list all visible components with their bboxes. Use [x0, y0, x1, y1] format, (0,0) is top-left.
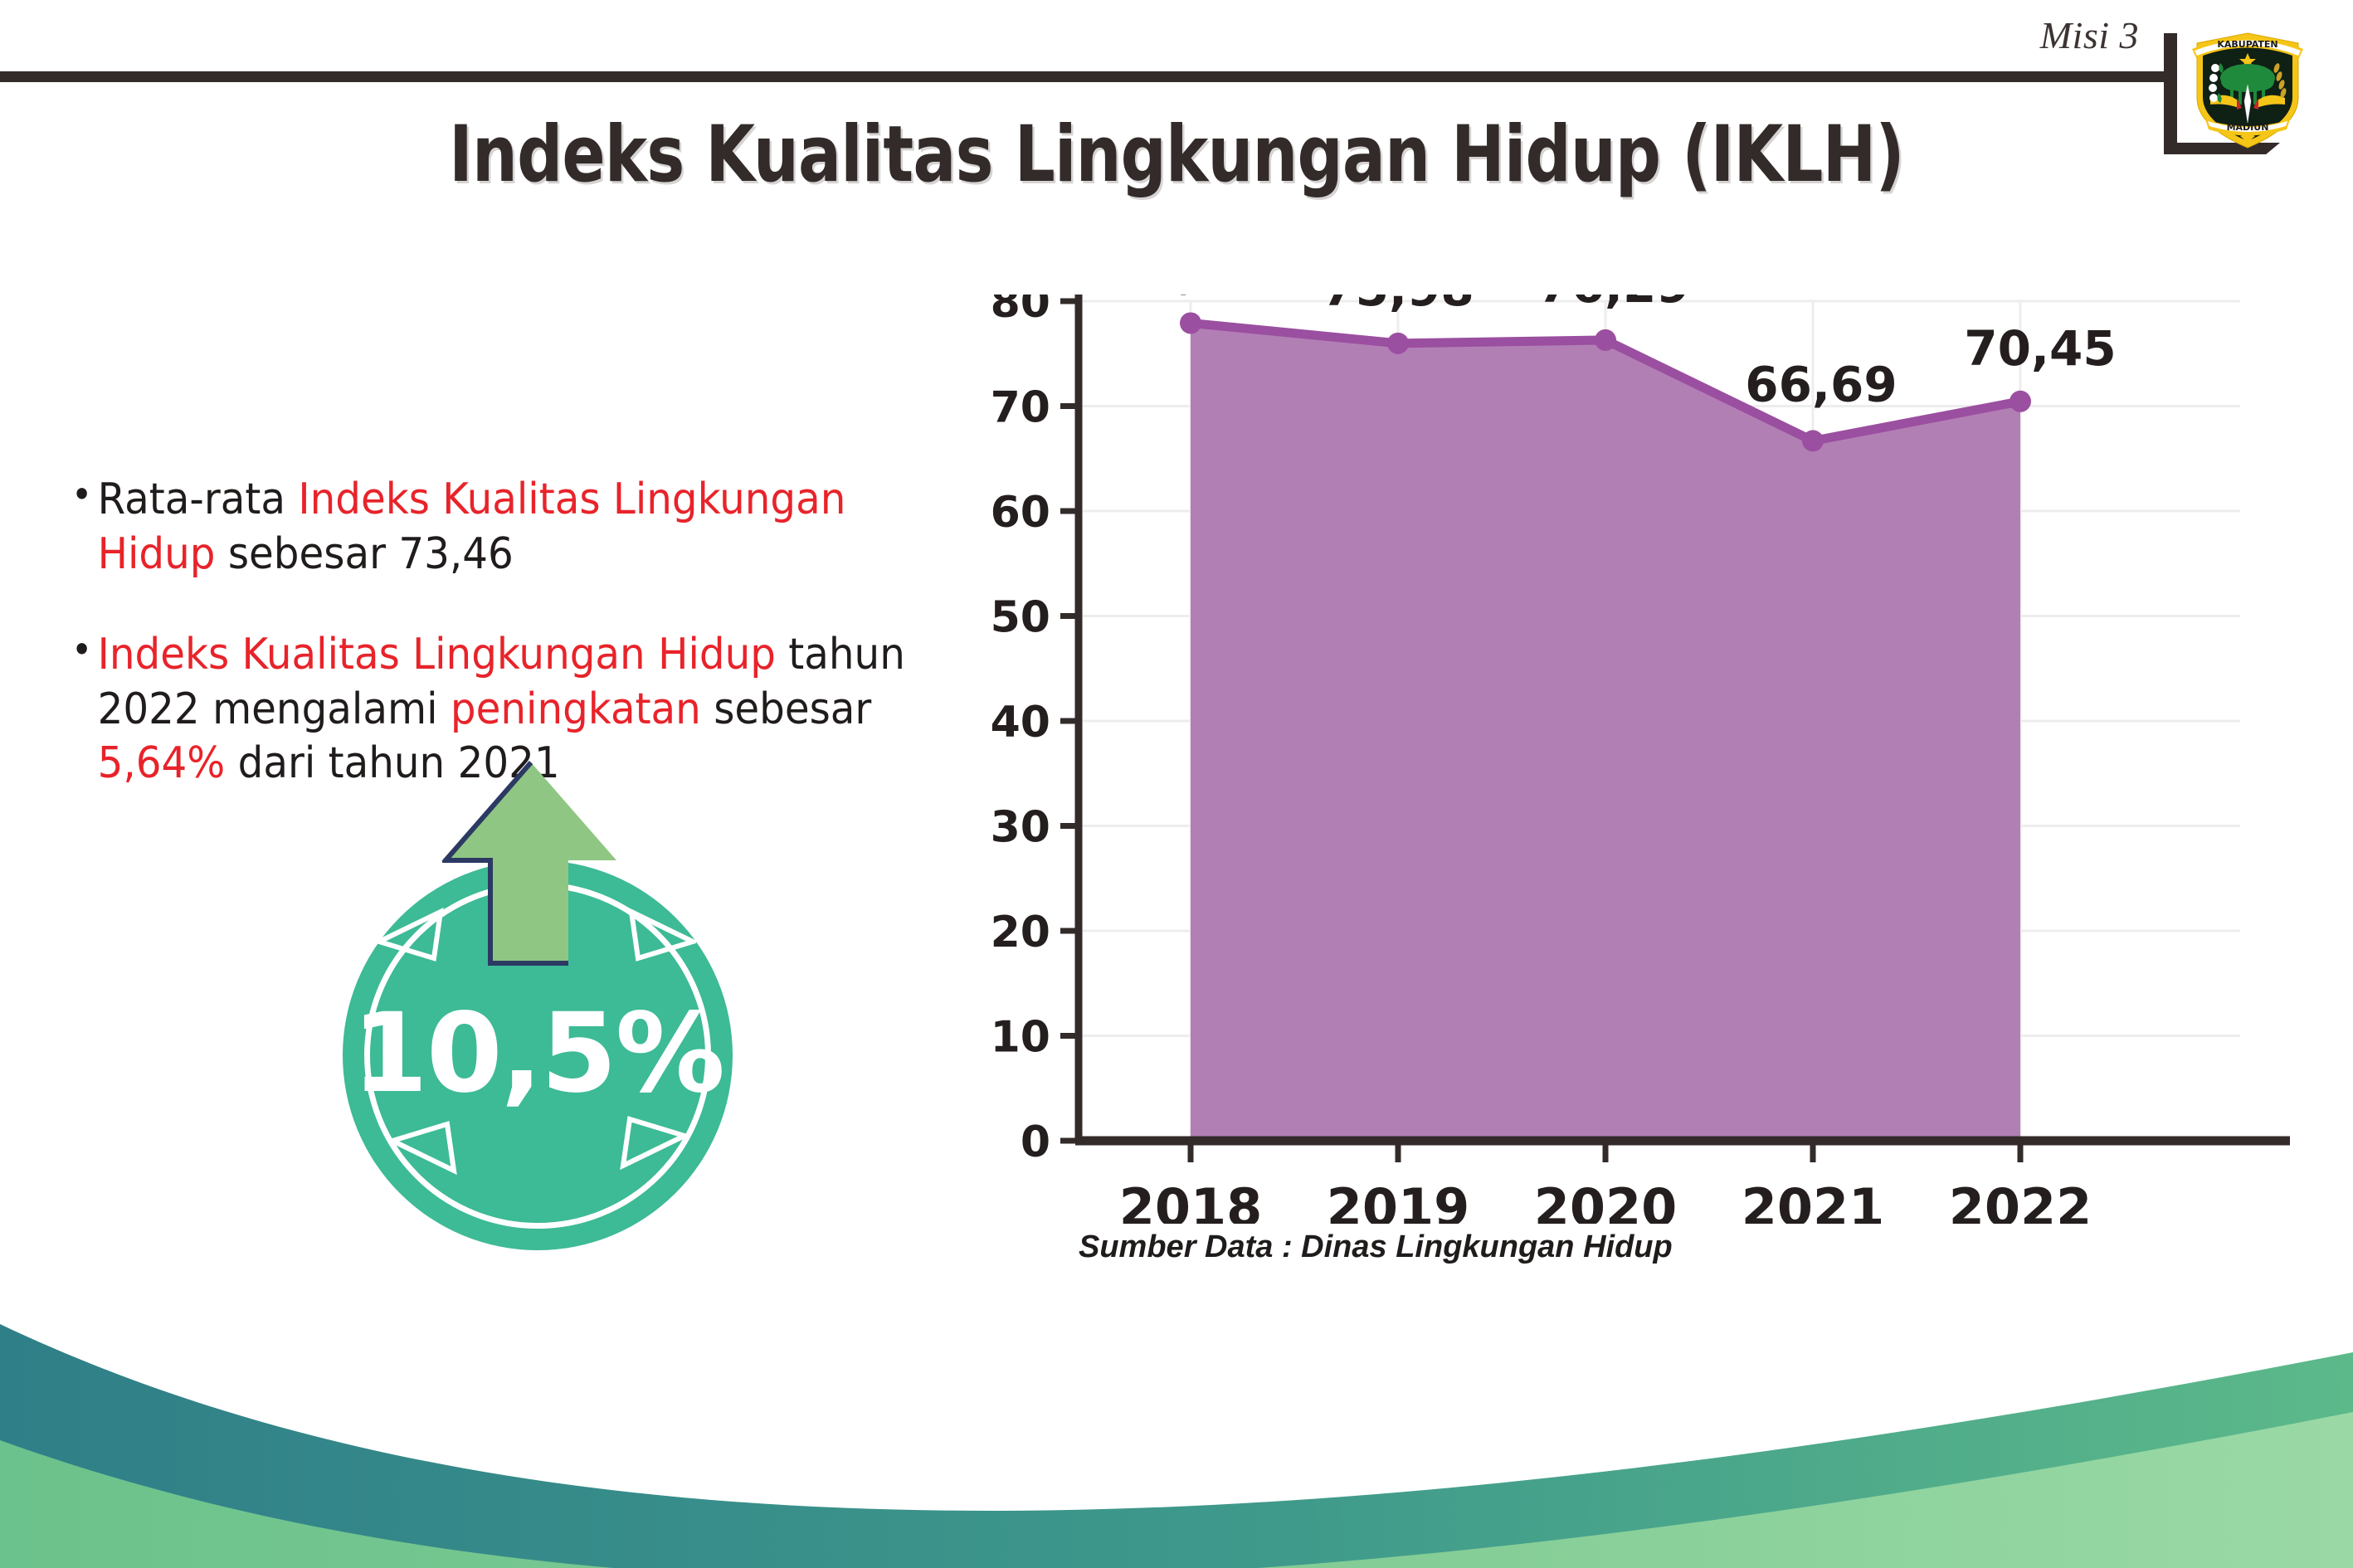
data-label: 70,45	[1964, 320, 2116, 377]
chart-area-series	[1180, 312, 2031, 1141]
misi-label: Misi 3	[2040, 13, 2139, 57]
header-rule	[0, 71, 2174, 82]
bullet-segment: Rata-rata	[98, 475, 299, 524]
kabupaten-madiun-emblem-icon: KABUPATEN	[2189, 22, 2307, 153]
y-tick-label: 10	[991, 1013, 1050, 1063]
bullet-segment: Indeks Kualitas Lingkungan Hidup	[98, 630, 776, 679]
x-tick-label: 2020	[1534, 1177, 1678, 1224]
badge-value: 10,5%	[343, 990, 733, 1118]
increase-badge: 10,5%	[328, 759, 759, 1232]
tick-arrow-top-left-icon	[376, 907, 447, 967]
tick-arrow-top-right-icon	[625, 907, 696, 967]
y-tick-label: 70	[991, 383, 1050, 433]
data-label: 77,91	[1111, 295, 1263, 299]
bullet-item: Rata-rata Indeks Kualitas Lingkungan Hid…	[71, 473, 913, 582]
x-tick-label: 2019	[1327, 1177, 1470, 1224]
footer-waves	[0, 1294, 2353, 1568]
y-tick-label: 20	[991, 908, 1050, 957]
tick-arrow-bottom-right-icon	[616, 1111, 688, 1171]
page-title: Indeks Kualitas Lingkungan Hidup (IKLH)	[212, 110, 2141, 200]
y-tick-label: 0	[1021, 1118, 1050, 1167]
bullet-segment: 5,64%	[98, 738, 226, 788]
infographic-slide: Misi 3 KABUPATEN	[0, 0, 2353, 1568]
data-label: 75,98	[1322, 295, 1474, 317]
bullet-segment: sebesar 73,46	[215, 529, 513, 579]
chart-x-tick-labels: 20182019202020212022	[1119, 1177, 2092, 1224]
chart-y-tick-labels: 01020304050607080	[991, 295, 1050, 1167]
x-tick-label: 2022	[1949, 1177, 2092, 1224]
bullet-segment: sebesar	[701, 684, 871, 734]
svg-text:KABUPATEN: KABUPATEN	[2217, 39, 2277, 50]
chart-source-note: Sumber Data : Dinas Lingkungan Hidup	[1079, 1230, 1673, 1265]
up-arrow-icon	[442, 759, 620, 967]
y-tick-label: 30	[991, 803, 1050, 853]
iklh-area-chart: 01020304050607080 20182019202020212022 7…	[987, 295, 2290, 1224]
bullet-segment: peningkatan	[451, 684, 701, 734]
x-tick-label: 2021	[1742, 1177, 1885, 1224]
footer-band: Media Infografis Data Statistik Sektoral…	[0, 1294, 2353, 1568]
y-tick-label: 40	[991, 698, 1050, 747]
tick-arrow-bottom-left-icon	[389, 1116, 460, 1176]
chart-canvas: 01020304050607080 20182019202020212022 7…	[987, 295, 2290, 1224]
header-bracket-vertical	[2164, 33, 2177, 154]
y-tick-label: 80	[991, 295, 1050, 328]
svg-text:MADIUN: MADIUN	[2227, 122, 2269, 133]
y-tick-label: 50	[991, 593, 1050, 643]
x-tick-label: 2018	[1119, 1177, 1263, 1224]
y-tick-label: 60	[991, 488, 1050, 538]
data-label: 66,69	[1745, 356, 1897, 412]
data-label: 76,29	[1537, 295, 1689, 314]
